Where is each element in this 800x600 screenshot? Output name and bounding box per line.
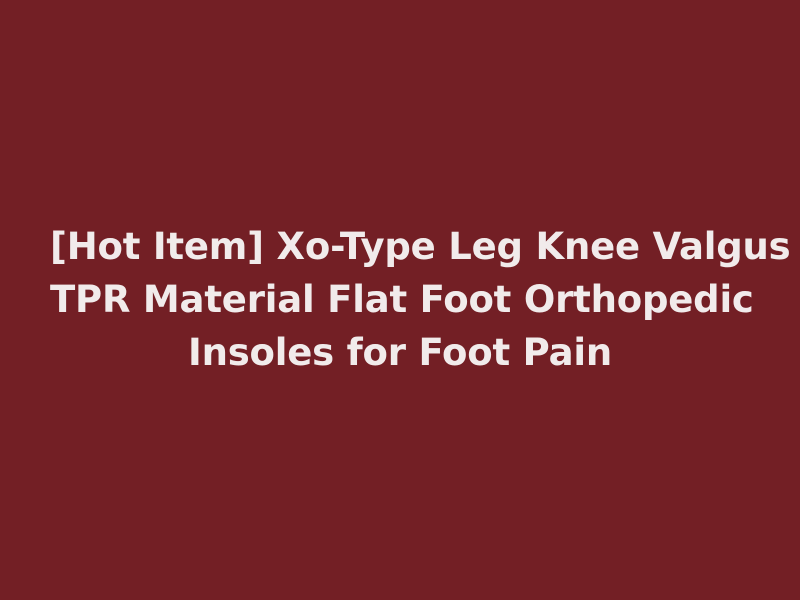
title-line-1: [Hot Item] Xo-Type Leg Knee Valgus <box>50 220 750 273</box>
page-title: [Hot Item] Xo-Type Leg Knee Valgus TPR M… <box>50 220 750 379</box>
product-title-banner: [Hot Item] Xo-Type Leg Knee Valgus TPR M… <box>0 0 800 600</box>
title-line-2: TPR Material Flat Foot Orthopedic <box>50 273 750 326</box>
title-line-3: Insoles for Foot Pain <box>50 326 750 379</box>
